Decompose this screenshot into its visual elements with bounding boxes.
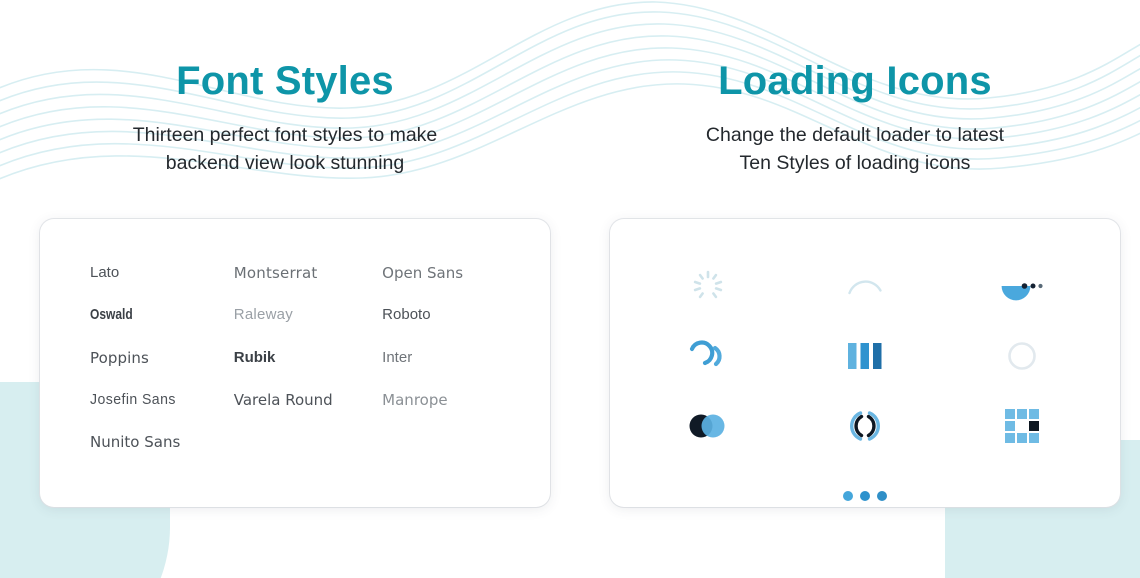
loader-cell-bars[interactable] bbox=[833, 324, 897, 388]
font-item-raleway[interactable]: Raleway bbox=[234, 305, 382, 325]
loader-cell-two-circles[interactable] bbox=[676, 394, 740, 458]
loader-cell-double-arc[interactable] bbox=[676, 324, 740, 388]
font-item-montserrat[interactable]: Montserrat bbox=[234, 263, 382, 283]
ring-spinner-icon bbox=[1006, 340, 1038, 372]
panel-font-styles: Font Styles Thirteen perfect font styles… bbox=[0, 0, 570, 578]
subtitle-line-2: backend view look stunning bbox=[166, 152, 405, 174]
font-item-roboto[interactable]: Roboto bbox=[382, 305, 500, 325]
loader-cell-ring[interactable] bbox=[990, 324, 1054, 388]
double-arc-spinner-icon bbox=[686, 340, 730, 372]
subtitle-line-1: Change the default loader to latest bbox=[706, 124, 1004, 146]
font-item-open-sans[interactable]: Open Sans bbox=[382, 263, 500, 283]
font-item-inter[interactable]: Inter bbox=[382, 348, 500, 368]
loading-icons-card bbox=[610, 219, 1120, 507]
font-styles-card: Lato Montserrat Open Sans Oswald Raleway… bbox=[40, 219, 550, 507]
page-root: Font Styles Thirteen perfect font styles… bbox=[0, 0, 1140, 578]
loader-cell-arc[interactable] bbox=[833, 254, 897, 318]
subtitle-line-1: Thirteen perfect font styles to make bbox=[133, 124, 438, 146]
subtitle-line-2: Ten Styles of loading icons bbox=[740, 152, 971, 174]
font-grid-spacer-b bbox=[382, 432, 500, 452]
font-grid-spacer-a bbox=[234, 432, 382, 452]
pacman-spinner-icon bbox=[999, 269, 1045, 303]
panel-loading-icons: Loading Icons Change the default loader … bbox=[570, 0, 1140, 578]
font-item-nunito-sans[interactable]: Nunito Sans bbox=[90, 432, 234, 452]
loader-list bbox=[630, 245, 1100, 531]
font-item-lato[interactable]: Lato bbox=[90, 263, 234, 283]
facing-arcs-spinner-icon bbox=[846, 407, 884, 445]
page-title-font-styles: Font Styles bbox=[0, 58, 570, 104]
loader-cell-radial-dashes[interactable] bbox=[676, 254, 740, 318]
bars-spinner-icon bbox=[847, 341, 883, 371]
font-item-oswald[interactable]: Oswald bbox=[90, 305, 205, 325]
loader-cell-three-dots[interactable] bbox=[833, 464, 897, 528]
loader-cell-grid-squares[interactable] bbox=[990, 394, 1054, 458]
panel-columns: Font Styles Thirteen perfect font styles… bbox=[0, 0, 1140, 578]
arc-spinner-icon bbox=[844, 265, 886, 307]
loader-cell-facing-arcs[interactable] bbox=[833, 394, 897, 458]
three-dots-spinner-icon bbox=[842, 489, 888, 503]
font-item-poppins[interactable]: Poppins bbox=[90, 348, 234, 368]
subtitle-font-styles: Thirteen perfect font styles to make bac… bbox=[75, 122, 495, 177]
font-item-rubik[interactable]: Rubik bbox=[234, 348, 382, 368]
page-title-loading-icons: Loading Icons bbox=[570, 58, 1140, 104]
subtitle-loading-icons: Change the default loader to latest Ten … bbox=[645, 122, 1065, 177]
font-item-varela-round[interactable]: Varela Round bbox=[234, 390, 382, 410]
font-item-manrope[interactable]: Manrope bbox=[382, 390, 500, 410]
radial-dashes-spinner-icon bbox=[690, 268, 726, 304]
loader-cell-pacman[interactable] bbox=[990, 254, 1054, 318]
font-list: Lato Montserrat Open Sans Oswald Raleway… bbox=[90, 263, 500, 452]
font-item-josefin-sans[interactable]: Josefin Sans bbox=[90, 390, 225, 410]
two-circles-spinner-icon bbox=[687, 412, 729, 440]
grid-squares-spinner-icon bbox=[1005, 409, 1039, 443]
